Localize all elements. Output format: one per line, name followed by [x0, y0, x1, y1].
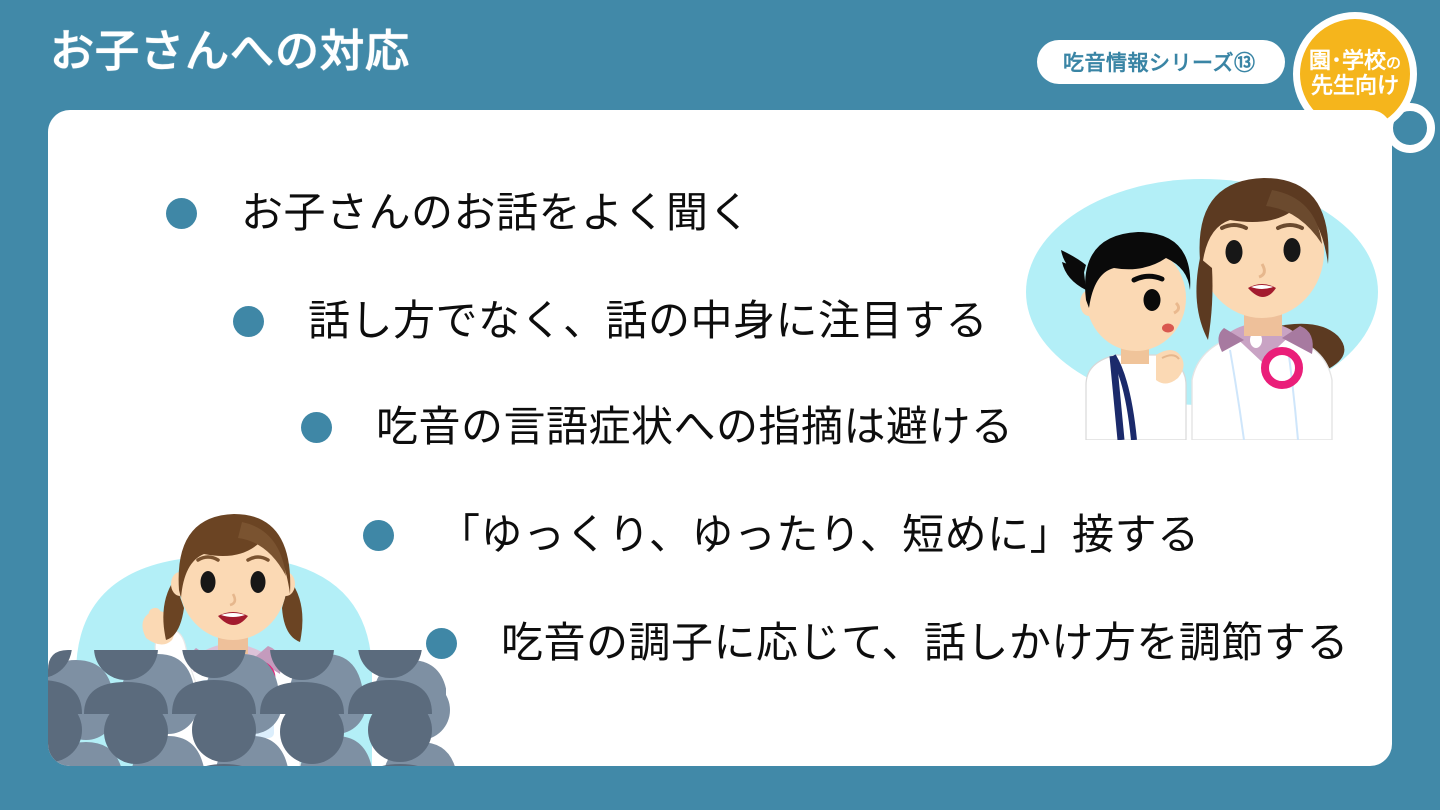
bullet-dot-icon — [301, 412, 332, 443]
audience-badge-line1-main: 園･学校 — [1309, 48, 1386, 73]
slide-root: お子さんへの対応 吃音情報シリーズ⑬ 園･学校の 先生向け — [0, 0, 1440, 810]
content-card: お子さんのお話をよく聞く 話し方でなく、話の中身に注目する 吃音の言語症状への指… — [48, 110, 1392, 766]
list-item-label: お子さんのお話をよく聞く — [241, 188, 751, 238]
list-item-label: 話し方でなく、話の中身に注目する — [308, 296, 988, 346]
list-item-label: 吃音の言語症状への指摘は避ける — [376, 402, 1014, 452]
audience-badge-line1: 園･学校の — [1309, 49, 1401, 74]
list-item: 「ゆっくり、ゆったり、短めに」接する — [363, 510, 1200, 560]
bullet-dot-icon — [233, 306, 264, 337]
list-item: 吃音の言語症状への指摘は避ける — [301, 402, 1014, 452]
list-item: お子さんのお話をよく聞く — [166, 188, 751, 238]
list-item-label: 「ゆっくり、ゆったり、短めに」接する — [438, 510, 1200, 560]
audience-badge-line2: 先生向け — [1311, 74, 1399, 99]
list-item: 話し方でなく、話の中身に注目する — [233, 296, 988, 346]
page-title: お子さんへの対応 — [50, 27, 410, 78]
bullet-dot-icon — [363, 520, 394, 551]
series-badge: 吃音情報シリーズ⑬ — [1037, 40, 1285, 84]
list-item: 吃音の調子に応じて、話しかけ方を調節する — [426, 618, 1349, 668]
audience-badge-line1-suffix: の — [1386, 55, 1401, 72]
bullet-dot-icon — [426, 628, 457, 659]
series-badge-label: 吃音情報シリーズ⑬ — [1063, 47, 1255, 77]
bullet-list: お子さんのお話をよく聞く 話し方でなく、話の中身に注目する 吃音の言語症状への指… — [48, 110, 1392, 766]
list-item-label: 吃音の調子に応じて、話しかけ方を調節する — [501, 618, 1349, 668]
bullet-dot-icon — [166, 198, 197, 229]
